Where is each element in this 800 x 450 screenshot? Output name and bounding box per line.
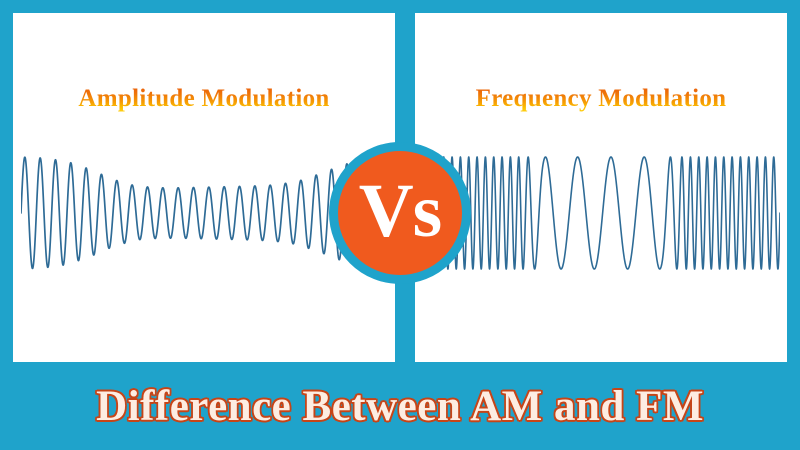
amplitude-modulation-title: Amplitude Modulation xyxy=(13,85,395,113)
versus-badge: Vs xyxy=(329,142,471,284)
fm-waveform xyxy=(425,153,780,273)
caption-title: Difference Between AM and FM xyxy=(96,382,704,431)
versus-label: Vs xyxy=(359,173,441,249)
caption-bar: Difference Between AM and FM xyxy=(0,362,800,450)
infographic-canvas: Amplitude Modulation Frequency Modulatio… xyxy=(0,0,800,450)
frequency-modulation-panel: Frequency Modulation xyxy=(415,13,787,362)
frequency-modulation-title: Frequency Modulation xyxy=(415,85,787,113)
